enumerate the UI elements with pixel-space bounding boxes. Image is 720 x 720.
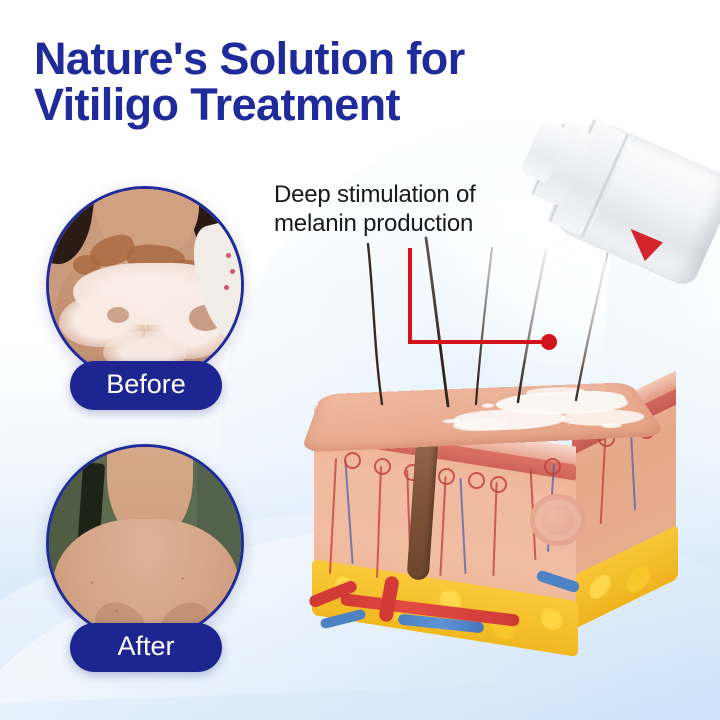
capillary-loop xyxy=(468,472,485,489)
after-photo-image xyxy=(49,447,241,639)
freckle xyxy=(181,577,184,580)
neck-crease xyxy=(169,444,243,445)
before-badge: Before xyxy=(70,361,222,410)
pigmented-area xyxy=(107,307,129,323)
before-photo xyxy=(46,186,244,384)
poster-canvas: Nature's Solution for Vitiligo Treatment xyxy=(0,0,720,720)
depigmented-speck xyxy=(600,423,623,429)
capillary-loop xyxy=(438,468,455,485)
callout-leader-vertical xyxy=(408,248,412,344)
callout-line-2: melanin production xyxy=(274,209,544,238)
clothing-dot xyxy=(230,269,235,274)
after-badge: After xyxy=(70,623,222,672)
capillary-loop xyxy=(374,458,391,475)
freckle xyxy=(115,609,118,612)
callout-leader-dot xyxy=(541,334,557,350)
page-title-line-2: Vitiligo Treatment xyxy=(34,82,554,128)
page-title-line-1: Nature's Solution for xyxy=(34,33,465,84)
callout-text: Deep stimulation of melanin production xyxy=(274,180,544,239)
before-photo-image xyxy=(49,189,241,381)
callout-line-1: Deep stimulation of xyxy=(274,180,544,209)
capillary-loop xyxy=(490,476,507,493)
freckle xyxy=(205,615,208,618)
callout-leader-horizontal xyxy=(408,340,550,344)
capillary-loop xyxy=(344,452,361,469)
clothing-dot xyxy=(226,253,231,258)
page-title: Nature's Solution for Vitiligo Treatment xyxy=(34,36,554,128)
clothing-dot xyxy=(224,285,229,290)
freckle xyxy=(91,581,94,584)
sweat-gland xyxy=(530,494,586,546)
capillary-loop xyxy=(544,458,561,475)
after-photo xyxy=(46,444,244,642)
